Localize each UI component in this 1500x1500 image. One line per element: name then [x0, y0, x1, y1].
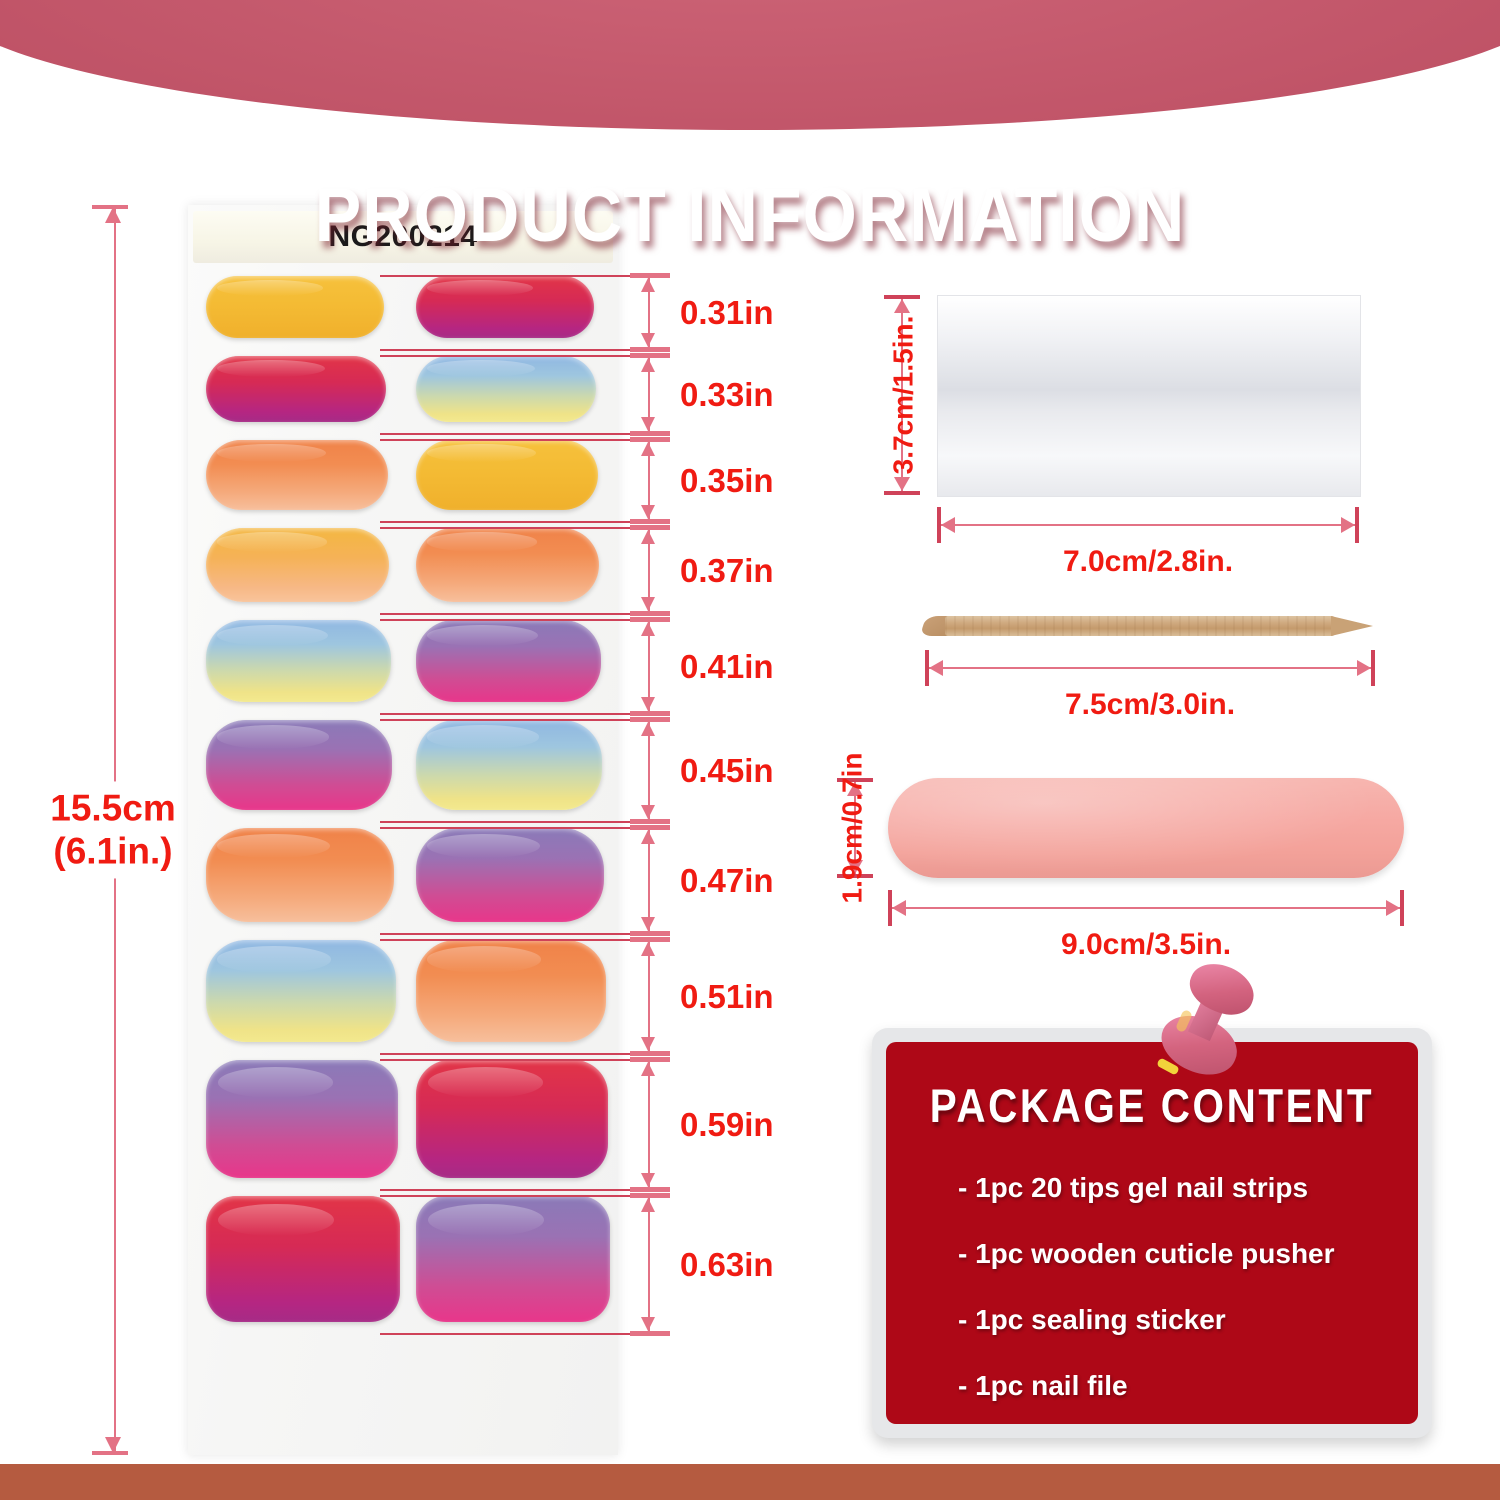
extension-line — [380, 349, 650, 351]
arrow-down-icon — [641, 697, 655, 711]
nail-strip[interactable] — [206, 528, 389, 602]
nail-file-height-dimension: 1.9cm/0.7in — [835, 778, 875, 878]
arrow-down-icon — [641, 1317, 655, 1331]
dimension-cap-bottom — [630, 711, 670, 716]
extension-line — [380, 275, 650, 277]
row-dimension-label: 0.33in — [680, 376, 774, 414]
arrow-up-icon — [641, 530, 655, 544]
extension-line — [380, 939, 650, 941]
arrow-left-icon — [929, 660, 943, 676]
nail-strip-row — [188, 1051, 618, 1187]
nail-strip[interactable] — [206, 620, 391, 702]
arrow-up-icon — [894, 299, 910, 313]
pushpin-icon — [1155, 966, 1265, 1084]
nail-strip[interactable] — [416, 828, 604, 922]
row-dimension-label: 0.31in — [680, 294, 774, 332]
extension-line — [380, 821, 650, 823]
arrow-left-icon — [941, 517, 955, 533]
nail-strip[interactable] — [206, 440, 388, 510]
nail-strip-row — [188, 267, 618, 347]
dimension-cap-right — [1371, 650, 1375, 686]
arrow-up-icon — [641, 358, 655, 372]
nail-file-height-label: 1.9cm/0.7in — [836, 753, 868, 904]
dimension-cap-bottom — [630, 819, 670, 824]
package-content-item: - 1pc sealing sticker — [958, 1304, 1400, 1336]
nail-file-image — [888, 778, 1404, 878]
extension-line — [380, 521, 650, 523]
overall-height-dimension: 15.5cm (6.1in.) — [108, 205, 122, 1455]
arrow-down-icon — [641, 597, 655, 611]
row-dimension: 0.45in — [618, 717, 758, 825]
pushpin-head — [1182, 955, 1261, 1024]
nail-strip[interactable] — [206, 1060, 398, 1178]
dimension-cap-bottom — [630, 1331, 670, 1336]
arrow-down-icon — [641, 805, 655, 819]
row-dimension-label: 0.47in — [680, 862, 774, 900]
extension-line — [380, 1195, 650, 1197]
extension-line — [380, 355, 650, 357]
sealing-sticker-height-dimension: 3.7cm/1.5in. — [882, 295, 922, 495]
dimension-cap-bottom — [630, 611, 670, 616]
arrow-up-icon — [641, 1198, 655, 1212]
sealing-sticker-image — [937, 295, 1361, 497]
nail-file-width-dimension: 9.0cm/3.5in. — [888, 888, 1404, 928]
dimension-line — [648, 1197, 650, 1331]
arrow-right-icon — [1341, 517, 1355, 533]
dimension-cap-bottom — [884, 491, 920, 495]
row-dimension: 0.59in — [618, 1057, 758, 1193]
nail-strip-row — [188, 611, 618, 711]
nail-strip[interactable] — [206, 720, 392, 810]
stick-body — [945, 616, 1335, 636]
nail-strip-row — [188, 711, 618, 819]
arrow-down-icon — [641, 1173, 655, 1187]
nail-strip[interactable] — [206, 828, 394, 922]
nail-strip-row — [188, 1187, 618, 1331]
row-dimension-label: 0.35in — [680, 462, 774, 500]
arrow-down-icon — [894, 477, 910, 491]
package-content-inner: PACKAGE CONTENT - 1pc 20 tips gel nail s… — [886, 1042, 1418, 1424]
footer-bar — [0, 1464, 1500, 1500]
dimension-cap-bottom — [630, 1051, 670, 1056]
nail-strip[interactable] — [206, 1196, 400, 1322]
row-dimension-label: 0.37in — [680, 552, 774, 590]
nail-strip-row — [188, 431, 618, 519]
dimension-cap-right — [1400, 890, 1404, 926]
sealing-sticker-width-label: 7.0cm/2.8in. — [937, 545, 1359, 579]
row-dimension-label: 0.45in — [680, 752, 774, 790]
arrow-up-icon — [641, 942, 655, 956]
arrow-right-icon — [1357, 660, 1371, 676]
extension-line — [380, 933, 650, 935]
package-content-list: - 1pc 20 tips gel nail strips- 1pc woode… — [958, 1172, 1400, 1436]
dimension-line — [925, 667, 1375, 669]
dimension-cap-bottom — [630, 1187, 670, 1192]
nail-strip[interactable] — [206, 940, 396, 1042]
stick-pointed-end — [1331, 616, 1373, 636]
sealing-sticker-height-label: 3.7cm/1.5in. — [887, 316, 919, 475]
dimension-cap-bottom — [630, 431, 670, 436]
nail-strip[interactable] — [416, 940, 606, 1042]
row-dimension: 0.33in — [618, 353, 758, 437]
nail-strip-row — [188, 931, 618, 1051]
arrow-down-icon — [641, 417, 655, 431]
nail-strip[interactable] — [416, 720, 602, 810]
nail-strip[interactable] — [416, 528, 599, 602]
extension-line — [380, 613, 650, 615]
package-content-item: - 1pc nail file — [958, 1370, 1400, 1402]
nail-strip[interactable] — [416, 1196, 610, 1322]
extension-line — [380, 713, 650, 715]
dimension-line — [648, 829, 650, 931]
package-content-card: PACKAGE CONTENT - 1pc 20 tips gel nail s… — [872, 1028, 1432, 1438]
dimension-line — [888, 907, 1404, 909]
nail-strip-row — [188, 819, 618, 931]
extension-line — [380, 433, 650, 435]
cuticle-pusher-length-dimension: 7.5cm/3.0in. — [925, 648, 1375, 688]
extension-line — [380, 1059, 650, 1061]
dimension-cap-right — [1355, 507, 1359, 543]
dimension-cap-bottom — [630, 931, 670, 936]
arrow-right-icon — [1386, 900, 1400, 916]
dimension-cap-bottom — [630, 347, 670, 352]
row-dimension: 0.41in — [618, 617, 758, 717]
arrow-up-icon — [641, 442, 655, 456]
arrow-up-icon — [641, 1062, 655, 1076]
row-dimension: 0.35in — [618, 437, 758, 525]
extension-line — [380, 1189, 650, 1191]
nail-strip[interactable] — [416, 440, 598, 510]
gel-nail-strip-sheet: NG200214 — [188, 205, 618, 1455]
extension-line — [380, 719, 650, 721]
sealing-sticker-width-dimension: 7.0cm/2.8in. — [937, 505, 1359, 545]
extension-line — [380, 439, 650, 441]
nail-strip[interactable] — [416, 1060, 608, 1178]
nail-strip[interactable] — [416, 356, 596, 422]
arrow-up-icon — [641, 830, 655, 844]
arrow-down-icon — [105, 1437, 121, 1453]
package-content-title: PACKAGE CONTENT — [923, 1078, 1381, 1133]
nail-strip[interactable] — [206, 276, 384, 338]
row-dimension: 0.31in — [618, 273, 758, 353]
nail-strip-row — [188, 519, 618, 611]
row-dimension: 0.63in — [618, 1193, 758, 1337]
extension-line — [380, 1053, 650, 1055]
dimension-line — [937, 524, 1359, 526]
extension-line — [380, 527, 650, 529]
nail-file-width-label: 9.0cm/3.5in. — [888, 928, 1404, 962]
arrow-left-icon — [892, 900, 906, 916]
row-dimension-label: 0.63in — [680, 1246, 774, 1284]
row-dimension-label: 0.51in — [680, 978, 774, 1016]
dimension-line — [648, 1061, 650, 1187]
nail-strip-grid — [188, 267, 618, 1331]
row-dimension: 0.51in — [618, 937, 758, 1057]
cuticle-pusher-length-label: 7.5cm/3.0in. — [925, 688, 1375, 722]
arrow-down-icon — [641, 333, 655, 347]
row-dimension-label: 0.41in — [680, 648, 774, 686]
package-content-item: - 1pc 20 tips gel nail strips — [958, 1172, 1400, 1204]
row-dimension: 0.37in — [618, 525, 758, 617]
arrow-down-icon — [641, 917, 655, 931]
page-title: PRODUCT INFORMATION — [60, 172, 1440, 259]
arrow-down-icon — [641, 1037, 655, 1051]
wooden-cuticle-pusher-image — [915, 608, 1385, 644]
arrow-up-icon — [641, 722, 655, 736]
arrow-down-icon — [641, 505, 655, 519]
nail-strip[interactable] — [416, 276, 594, 338]
nail-strip-row — [188, 347, 618, 431]
arrow-up-icon — [641, 622, 655, 636]
row-dimension-label: 0.59in — [680, 1106, 774, 1144]
dimension-cap-bottom — [630, 519, 670, 524]
row-dimension: 0.47in — [618, 825, 758, 937]
nail-strip[interactable] — [206, 356, 386, 422]
extension-line — [380, 619, 650, 621]
dimension-line — [648, 941, 650, 1051]
arrow-up-icon — [641, 278, 655, 292]
extension-line — [380, 827, 650, 829]
extension-line — [380, 1333, 650, 1335]
package-content-item: - 1pc wooden cuticle pusher — [958, 1238, 1400, 1270]
nail-strip[interactable] — [416, 620, 601, 702]
